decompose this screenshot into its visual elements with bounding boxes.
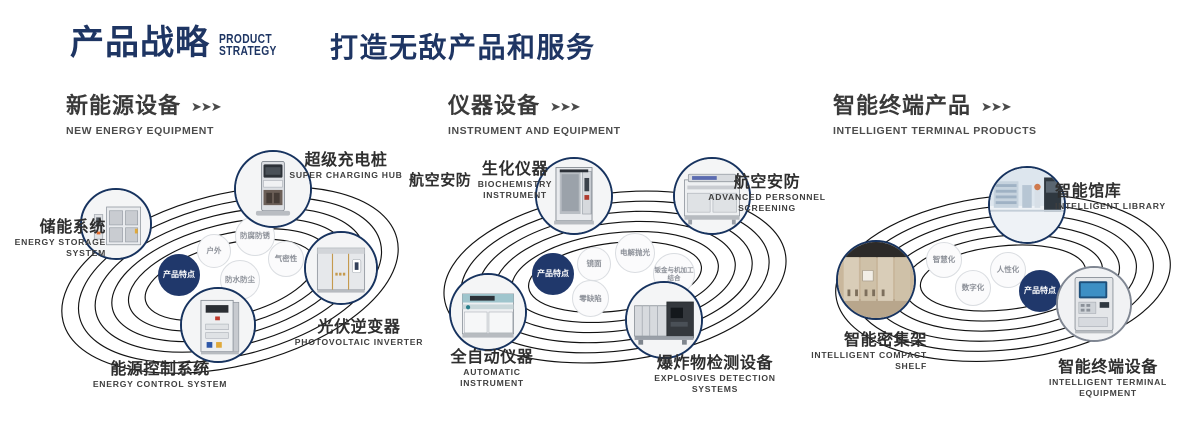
feature-bubble: 电解抛光 xyxy=(615,233,655,273)
feature-bubble-label: 零缺陷 xyxy=(579,294,602,303)
page-title-cn: 产品战略 xyxy=(70,26,210,60)
section-title-intelligent-terminal: 智能终端产品 ➤➤➤ INTELLIGENT TERMINAL PRODUCTS xyxy=(833,96,1037,137)
node-label-en: PHOTOVOLTAIC INVERTER xyxy=(292,337,426,347)
node-label-compact-shelf: 智能密集架 INTELLIGENT COMPACT SHELF xyxy=(805,331,927,371)
feature-bubble-label: 产品特点 xyxy=(163,270,195,280)
node-label-terminal-equipment: 智能终端设备 INTELLIGENT TERMINAL EQUIPMENT xyxy=(1026,358,1190,398)
automatic-instrument-icon xyxy=(451,275,525,349)
section-title-en: INTELLIGENT TERMINAL PRODUCTS xyxy=(833,125,1037,137)
feature-bubble-label: 人性化 xyxy=(997,265,1020,274)
feature-bubble-label: 数字化 xyxy=(962,283,985,292)
feature-bubble-main: 产品特点 xyxy=(532,253,574,295)
node-label-en: ENERGY STORAGE SYSTEM xyxy=(0,237,106,258)
node-label-cn: 爆炸物检测设备 xyxy=(632,354,798,371)
node-label-en: SUPER CHARGING HUB xyxy=(286,170,406,180)
terminal-kiosk-icon xyxy=(1058,268,1130,340)
feature-bubble: 气密性 xyxy=(268,241,304,277)
cluster-new-energy: 产品特点 户外 防腐防锈 防水防尘 气密性 xyxy=(40,160,420,390)
node-label-cn: 全自动仪器 xyxy=(430,348,554,365)
node-label-pv-inverter: 光伏逆变器 PHOTOVOLTAIC INVERTER xyxy=(292,318,426,348)
node-label-en: BIOCHEMISTRY INSTRUMENT xyxy=(461,179,569,200)
node-label-cn: 超级充电桩 xyxy=(286,151,406,168)
feature-bubble-label: 钣金与机加工结合 xyxy=(654,266,694,282)
node-label-cn: 能源控制系统 xyxy=(84,360,236,377)
page-title-en-line1: PRODUCT xyxy=(219,33,277,46)
page-slogan: 打造无敌产品和服务 xyxy=(330,34,596,62)
node-label-automatic-instrument: 全自动仪器 AUTOMATIC INSTRUMENT xyxy=(430,348,554,388)
compact-shelf-icon xyxy=(838,242,914,318)
chevron-right-arrows-icon: ➤➤➤ xyxy=(550,101,580,114)
section-title-en: INSTRUMENT AND EQUIPMENT xyxy=(448,125,621,137)
page-title: 产品战略 PRODUCT STRATEGY xyxy=(70,26,289,60)
node-label-intelligent-library: 智能馆库 INTELLIGENT LIBRARY xyxy=(1055,182,1195,212)
product-circle-explosives-detector[interactable] xyxy=(625,281,703,359)
section-title-cn: 新能源设备 xyxy=(66,96,181,118)
feature-bubble-label: 气密性 xyxy=(275,254,298,263)
product-strategy-infographic: 产品战略 PRODUCT STRATEGY 打造无敌产品和服务 新能源设备 ➤➤… xyxy=(0,0,1200,422)
feature-bubble: 户外 xyxy=(197,234,231,268)
page-title-en-line2: STRATEGY xyxy=(219,45,277,58)
feature-bubble-label: 户外 xyxy=(207,246,222,255)
node-label-explosives-detection: 爆炸物检测设备 EXPLOSIVES DETECTION SYSTEMS xyxy=(632,354,798,394)
section-title-cn: 仪器设备 xyxy=(448,96,540,118)
chevron-right-arrows-icon: ➤➤➤ xyxy=(191,101,221,114)
feature-bubble: 零缺陷 xyxy=(572,280,609,317)
section-title-en: NEW ENERGY EQUIPMENT xyxy=(66,125,221,137)
node-label-en: ENERGY CONTROL SYSTEM xyxy=(84,379,236,389)
node-label-charging-hub: 超级充电桩 SUPER CHARGING HUB xyxy=(286,151,406,181)
library-room-icon xyxy=(990,168,1064,242)
node-label-cn: 智能密集架 xyxy=(805,331,927,348)
node-label-en: ADVANCED PERSONNEL SCREENING xyxy=(705,192,829,213)
node-label-en: INTELLIGENT COMPACT SHELF xyxy=(805,350,927,371)
section-title-instrument: 仪器设备 ➤➤➤ INSTRUMENT AND EQUIPMENT xyxy=(448,96,621,137)
node-label-en: AUTOMATIC INSTRUMENT xyxy=(430,367,554,388)
node-label-energy-control: 能源控制系统 ENERGY CONTROL SYSTEM xyxy=(84,360,236,390)
page-title-en: PRODUCT STRATEGY xyxy=(219,33,277,59)
feature-bubble-main: 产品特点 xyxy=(1019,270,1061,312)
node-label-cn: 光伏逆变器 xyxy=(292,318,426,335)
section-title-new-energy: 新能源设备 ➤➤➤ NEW ENERGY EQUIPMENT xyxy=(66,96,221,137)
node-label-cn: 航空安防 xyxy=(705,173,829,190)
node-label-en: EXPLOSIVES DETECTION SYSTEMS xyxy=(632,373,798,394)
feature-bubble-label: 防水防尘 xyxy=(225,275,255,284)
node-label-en: INTELLIGENT TERMINAL EQUIPMENT xyxy=(1026,377,1190,398)
feature-bubble-label: 防腐防锈 xyxy=(240,231,270,240)
control-cabinet-icon xyxy=(182,289,254,361)
chevron-right-arrows-icon: ➤➤➤ xyxy=(981,101,1011,114)
explosives-detector-icon xyxy=(627,283,701,357)
node-label-energy-storage: 储能系统 ENERGY STORAGE SYSTEM xyxy=(0,218,106,258)
feature-bubble-label: 智慧化 xyxy=(933,255,956,264)
feature-bubble: 镜面 xyxy=(577,247,611,281)
product-circle-automatic-instrument[interactable] xyxy=(449,273,527,351)
feature-bubble-label: 电解抛光 xyxy=(620,248,650,257)
feature-bubble-label: 产品特点 xyxy=(1024,286,1056,296)
node-label-en: INTELLIGENT LIBRARY xyxy=(1055,201,1195,211)
node-label-cn: 智能馆库 xyxy=(1055,182,1195,199)
feature-bubble: 数字化 xyxy=(955,270,991,306)
section-title-cn: 智能终端产品 xyxy=(833,96,971,118)
product-circle-pv-inverter[interactable] xyxy=(304,231,378,305)
node-label-biochem-instrument: 生化仪器 BIOCHEMISTRY INSTRUMENT xyxy=(461,160,569,200)
product-circle-energy-control[interactable] xyxy=(180,287,256,363)
node-label-cn: 储能系统 xyxy=(0,218,106,235)
node-label-cn: 生化仪器 xyxy=(461,160,569,177)
pv-inverter-cabinet-icon xyxy=(306,233,376,303)
feature-bubble-label: 产品特点 xyxy=(537,269,569,279)
node-label-aviation-security: 航空安防 ADVANCED PERSONNEL SCREENING xyxy=(705,173,829,213)
feature-bubble-label: 镜面 xyxy=(587,259,602,268)
product-circle-terminal-equipment[interactable] xyxy=(1056,266,1132,342)
feature-bubble: 智慧化 xyxy=(926,242,962,278)
product-circle-compact-shelf[interactable] xyxy=(836,240,916,320)
node-label-cn: 智能终端设备 xyxy=(1026,358,1190,375)
